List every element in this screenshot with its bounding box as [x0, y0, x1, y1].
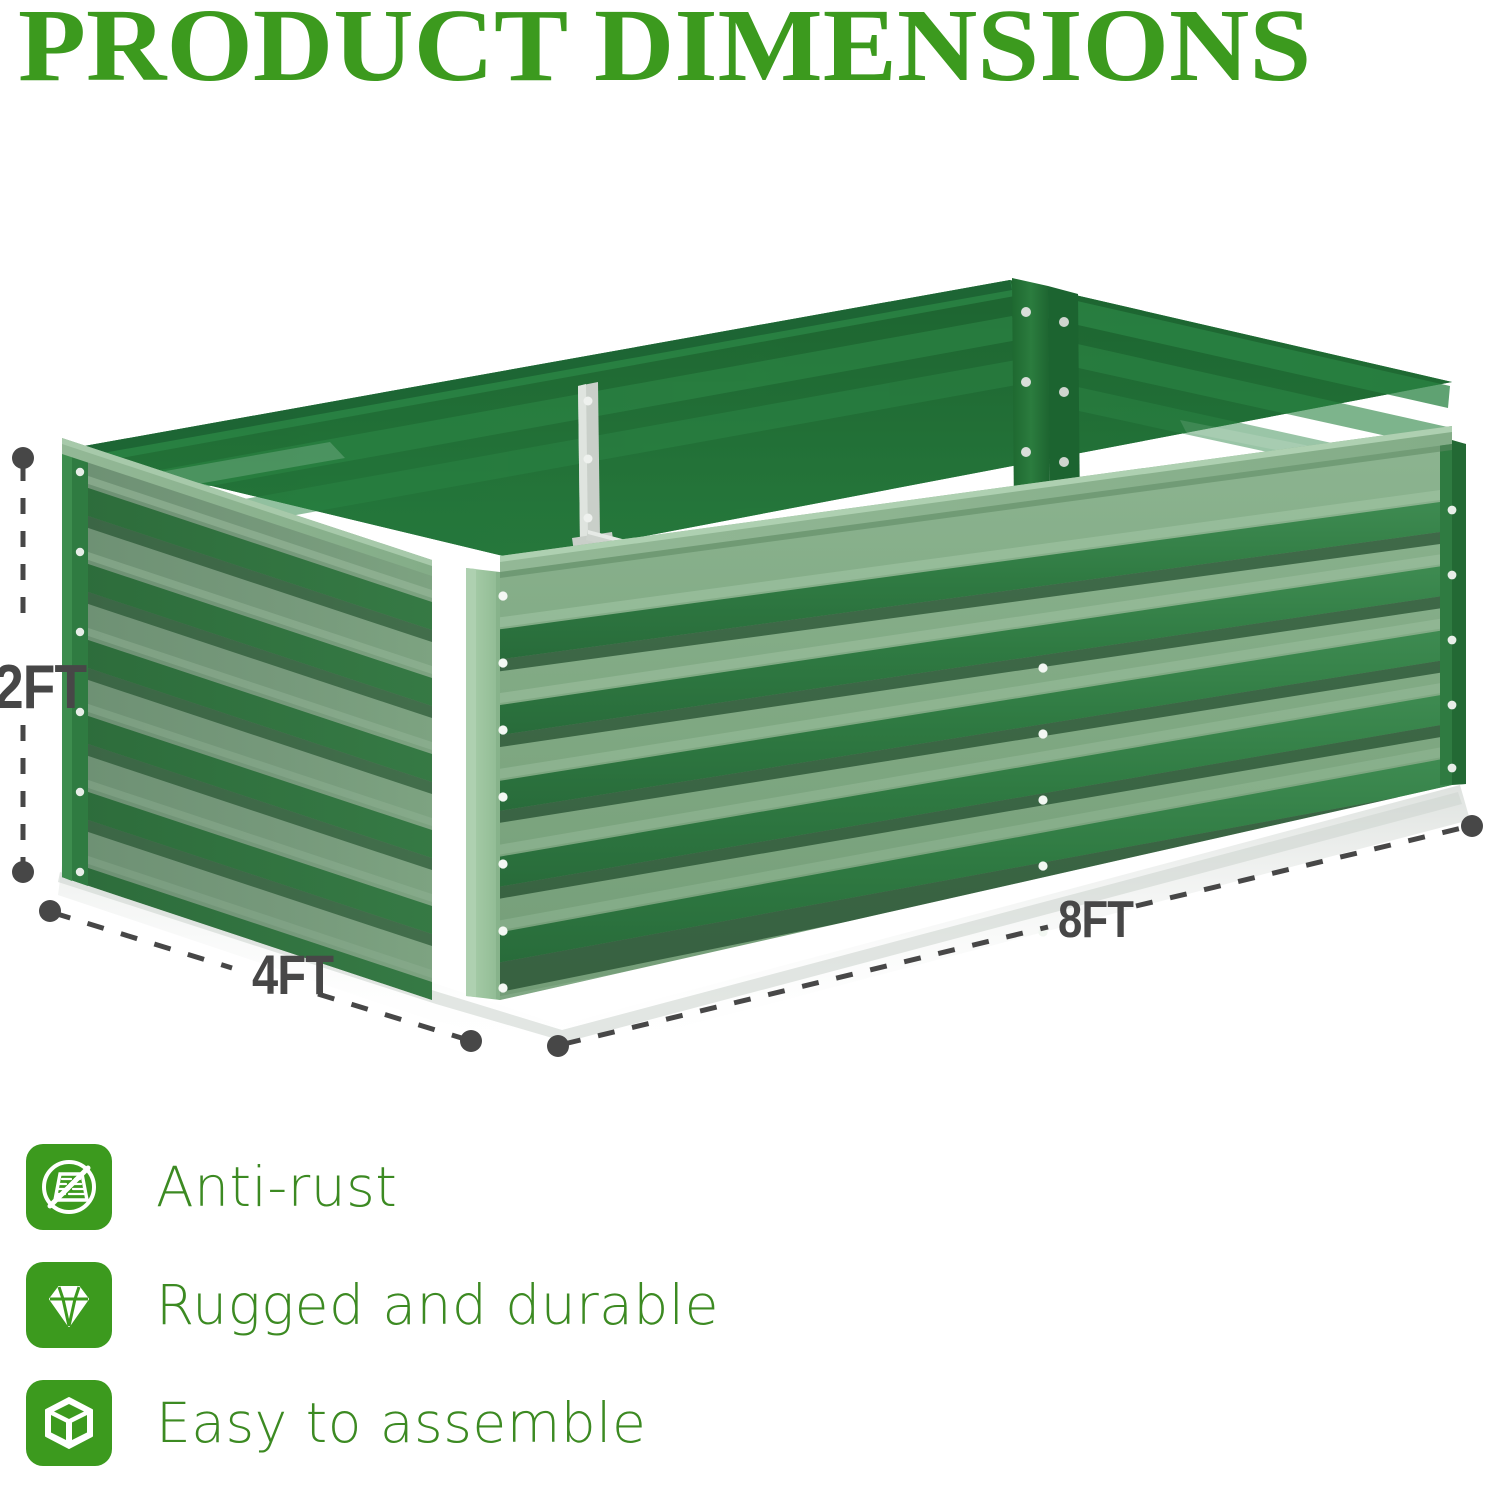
dimension-label-height: 2FT: [0, 652, 86, 723]
feature-label: Anti-rust: [156, 1155, 397, 1219]
feature-item-anti-rust: Anti-rust: [26, 1128, 926, 1246]
feature-item-easy-assemble: Easy to assemble: [26, 1364, 926, 1482]
feature-label: Easy to assemble: [156, 1391, 646, 1455]
feature-list: Anti-rust Rugged and durable: [26, 1128, 926, 1482]
feature-label: Rugged and durable: [156, 1273, 719, 1337]
diamond-icon: [26, 1262, 112, 1348]
page-title: PRODUCT DIMENSIONS: [18, 0, 1500, 98]
feature-item-rugged-durable: Rugged and durable: [26, 1246, 926, 1364]
cube-box-icon: [26, 1380, 112, 1466]
anti-rust-icon: [26, 1144, 112, 1230]
dimension-label-length: 8FT: [1058, 890, 1133, 950]
product-illustration: [0, 120, 1500, 1080]
garden-bed-drawing: [0, 120, 1500, 1080]
dimension-label-width: 4FT: [252, 942, 333, 1007]
